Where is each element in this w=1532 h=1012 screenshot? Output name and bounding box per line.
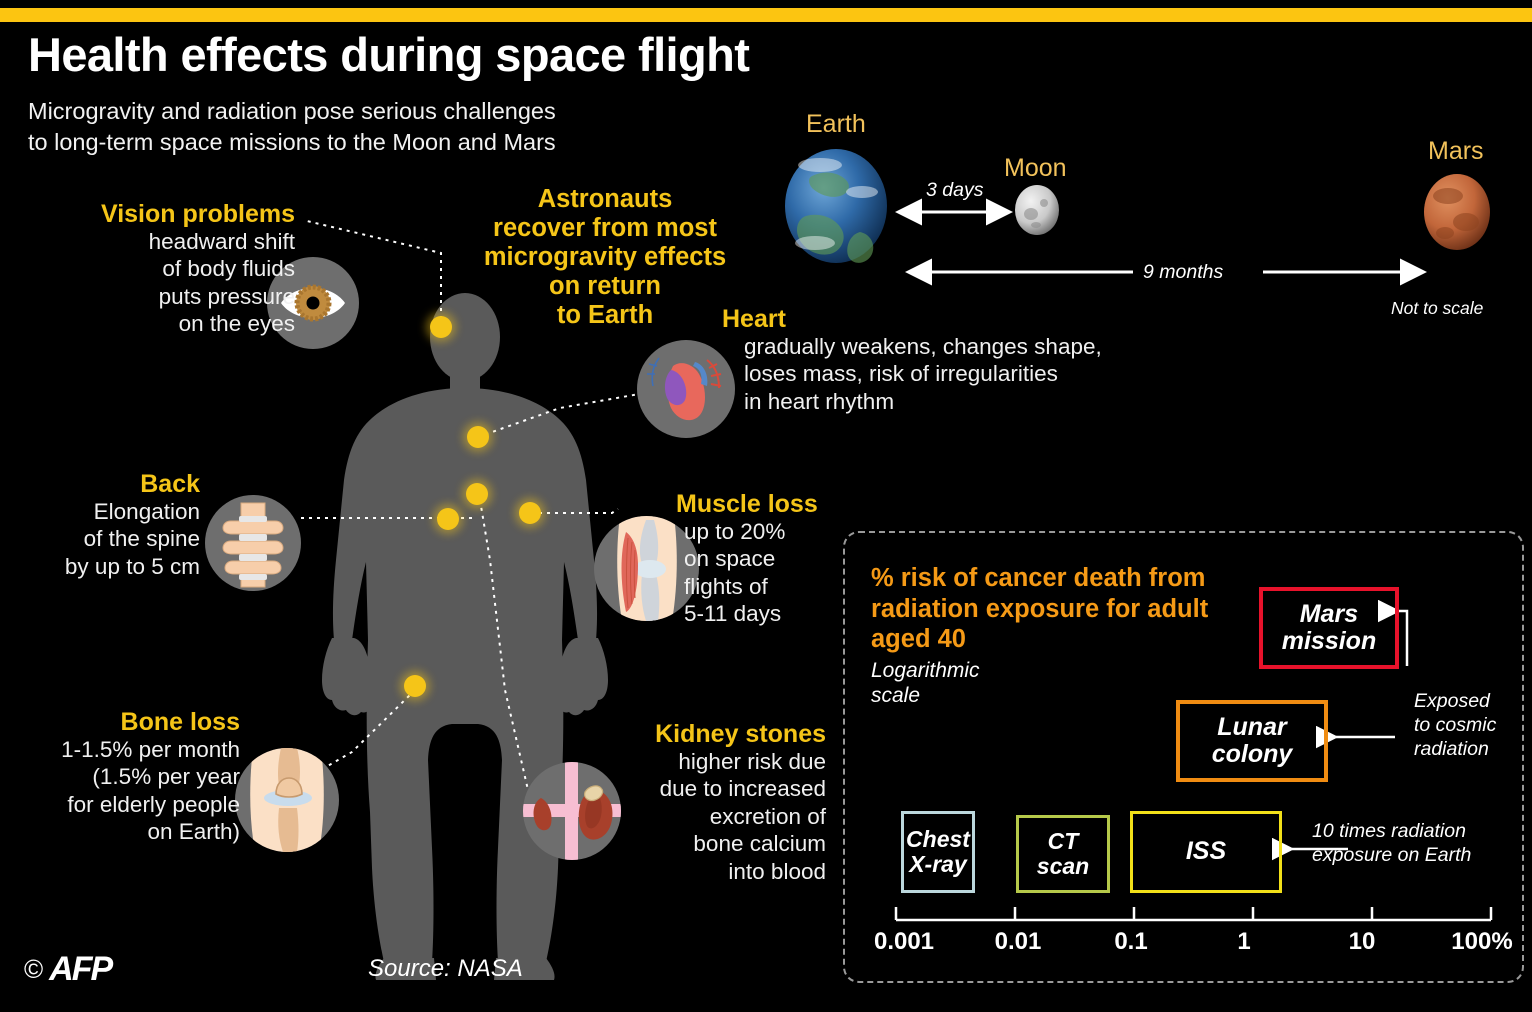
infographic-root: Health effects during space flight Micro… bbox=[0, 0, 1532, 1012]
callout-muscle-body: up to 20% on space flights of 5-11 days bbox=[676, 518, 856, 628]
callout-vision-heading: Vision problems bbox=[40, 200, 295, 228]
page-subtitle: Microgravity and radiation pose serious … bbox=[28, 96, 556, 159]
earth-mars-duration: 9 months bbox=[1143, 261, 1223, 284]
callout-back-body: Elongation of the spine by up to 5 cm bbox=[15, 498, 200, 580]
knee-joint-icon bbox=[235, 748, 339, 852]
callout-back-line-2: of the spine bbox=[15, 525, 200, 552]
page-title: Health effects during space flight bbox=[28, 30, 749, 79]
callout-muscle-line-4: 5-11 days bbox=[684, 600, 856, 627]
callout-bone-line-2: (1.5% per year bbox=[0, 763, 240, 790]
callout-vision-line-3: puts pressure bbox=[40, 283, 295, 310]
copyright-icon: © bbox=[24, 954, 43, 985]
callout-kidney: Kidney stones higher risk due due to inc… bbox=[570, 720, 826, 885]
subtitle-line-1: Microgravity and radiation pose serious … bbox=[28, 96, 556, 127]
callout-back-heading: Back bbox=[15, 470, 200, 498]
chart-subtitle: Logarithmicscale bbox=[871, 658, 980, 708]
source-attribution: Source: NASA bbox=[368, 955, 523, 983]
recovery-note-line-5: to Earth bbox=[460, 301, 750, 330]
moon-label: Moon bbox=[1004, 154, 1067, 183]
callout-kidney-line-4: bone calcium bbox=[570, 830, 826, 857]
axis-tick-3: 1 bbox=[1237, 928, 1250, 956]
recovery-note: Astronauts recover from most microgravit… bbox=[460, 185, 750, 330]
chart-box-iss-label: ISS bbox=[1186, 838, 1226, 866]
annotation-cosmic-line-2: to cosmic bbox=[1414, 714, 1532, 738]
afp-logo: © AFP bbox=[24, 950, 111, 989]
scale-note: Not to scale bbox=[1391, 298, 1483, 319]
recovery-note-line-2: recover from most bbox=[460, 214, 750, 243]
callout-kidney-heading: Kidney stones bbox=[570, 720, 826, 748]
callout-bone-line-4: on Earth) bbox=[0, 818, 240, 845]
callout-vision-line-1: headward shift bbox=[40, 228, 295, 255]
callout-bone-line-3: for elderly people bbox=[0, 791, 240, 818]
callout-muscle-line-3: flights of bbox=[684, 573, 856, 600]
body-dot-heart bbox=[467, 426, 489, 448]
chart-box-ct-scan-line1: CT bbox=[1037, 829, 1089, 854]
chart-title-text: % risk of cancer death from radiation ex… bbox=[871, 564, 1208, 653]
recovery-note-line-1: Astronauts bbox=[460, 185, 750, 214]
callout-back-line-3: by up to 5 cm bbox=[15, 553, 200, 580]
chart-box-chest-xray-line1: Chest bbox=[906, 827, 970, 852]
accent-bar bbox=[0, 8, 1532, 22]
callout-kidney-line-3: excretion of bbox=[570, 803, 826, 830]
chart-box-chest-xray-line2: X-ray bbox=[906, 852, 970, 877]
chart-box-chest-xray: Chest X-ray bbox=[901, 811, 975, 893]
human-silhouette bbox=[322, 293, 608, 980]
earth-moon-duration: 3 days bbox=[926, 179, 983, 202]
body-dot-spine bbox=[466, 483, 488, 505]
callout-muscle: Muscle loss up to 20% on space flights o… bbox=[676, 490, 856, 628]
mars-label: Mars bbox=[1428, 137, 1484, 166]
body-dot-thigh bbox=[404, 675, 426, 697]
chart-box-mars-mission-line2: mission bbox=[1282, 628, 1376, 656]
chart-box-lunar-colony: Lunar colony bbox=[1176, 700, 1328, 782]
axis-tick-4: 10 bbox=[1349, 928, 1376, 956]
subtitle-line-2: to long-term space missions to the Moon … bbox=[28, 127, 556, 158]
body-dot-head bbox=[430, 316, 452, 338]
callout-vision-body: headward shift of body fluids puts press… bbox=[40, 228, 295, 338]
chart-box-mars-mission-line1: Mars bbox=[1282, 601, 1376, 629]
callout-heart-line-1: gradually weakens, changes shape, bbox=[744, 333, 1192, 360]
callout-muscle-line-2: on space bbox=[684, 545, 856, 572]
annotation-cosmic-radiation: Exposed to cosmic radiation bbox=[1414, 690, 1532, 761]
callout-muscle-heading: Muscle loss bbox=[676, 490, 856, 518]
callout-kidney-line-5: into blood bbox=[570, 858, 826, 885]
chart-box-lunar-colony-line1: Lunar bbox=[1212, 714, 1293, 742]
callout-bone-body: 1-1.5% per month (1.5% per year for elde… bbox=[0, 736, 240, 846]
callout-back: Back Elongation of the spine by up to 5 … bbox=[15, 470, 200, 580]
body-dot-abdomen bbox=[437, 508, 459, 530]
callout-heart-body: gradually weakens, changes shape, loses … bbox=[722, 333, 1192, 415]
chart-title: % risk of cancer death from radiation ex… bbox=[871, 563, 1271, 655]
earth-planet bbox=[785, 149, 887, 263]
callout-muscle-line-1: up to 20% bbox=[684, 518, 856, 545]
spine-icon bbox=[205, 495, 301, 591]
annotation-iss-line-2: exposure on Earth bbox=[1312, 844, 1532, 868]
earth-moon-mars-diagram bbox=[785, 149, 1490, 284]
axis-tick-5: 100% bbox=[1451, 928, 1512, 956]
mars-planet bbox=[1424, 174, 1490, 250]
annotation-cosmic-line-3: radiation bbox=[1414, 738, 1532, 762]
axis-tick-0: 0.001 bbox=[874, 928, 934, 956]
chart-box-iss: ISS bbox=[1130, 811, 1282, 893]
callout-kidney-line-2: due to increased bbox=[570, 775, 826, 802]
chart-box-mars-mission: Mars mission bbox=[1259, 587, 1399, 669]
recovery-note-line-4: on return bbox=[460, 272, 750, 301]
callout-bone-heading: Bone loss bbox=[0, 708, 240, 736]
axis-tick-1: 0.01 bbox=[995, 928, 1042, 956]
callout-kidney-body: higher risk due due to increased excreti… bbox=[570, 748, 826, 885]
moon-body bbox=[1015, 185, 1059, 235]
annotation-cosmic-line-1: Exposed bbox=[1414, 690, 1532, 714]
axis-tick-2: 0.1 bbox=[1114, 928, 1147, 956]
body-dot-arm bbox=[519, 502, 541, 524]
recovery-note-line-3: microgravity effects bbox=[460, 243, 750, 272]
chart-box-ct-scan-line2: scan bbox=[1037, 854, 1089, 879]
heart-icon bbox=[637, 340, 735, 438]
callout-vision: Vision problems headward shift of body f… bbox=[40, 200, 295, 338]
callout-heart-line-2: loses mass, risk of irregularities bbox=[744, 360, 1192, 387]
callout-vision-line-4: on the eyes bbox=[40, 310, 295, 337]
callout-heart: Heart gradually weakens, changes shape, … bbox=[722, 305, 1192, 415]
chart-box-lunar-colony-line2: colony bbox=[1212, 741, 1293, 769]
annotation-iss-line-1: 10 times radiation bbox=[1312, 820, 1532, 844]
callout-bone: Bone loss 1-1.5% per month (1.5% per yea… bbox=[0, 708, 240, 846]
callout-vision-line-2: of body fluids bbox=[40, 255, 295, 282]
callout-heart-heading: Heart bbox=[722, 305, 1192, 333]
callout-bone-line-1: 1-1.5% per month bbox=[0, 736, 240, 763]
annotation-iss-note: 10 times radiation exposure on Earth bbox=[1312, 820, 1532, 868]
chart-box-ct-scan: CT scan bbox=[1016, 815, 1110, 893]
callout-kidney-line-1: higher risk due bbox=[570, 748, 826, 775]
callout-back-line-1: Elongation bbox=[15, 498, 200, 525]
earth-label: Earth bbox=[806, 110, 866, 139]
callout-heart-line-3: in heart rhythm bbox=[744, 388, 1192, 415]
afp-wordmark: AFP bbox=[49, 950, 111, 989]
